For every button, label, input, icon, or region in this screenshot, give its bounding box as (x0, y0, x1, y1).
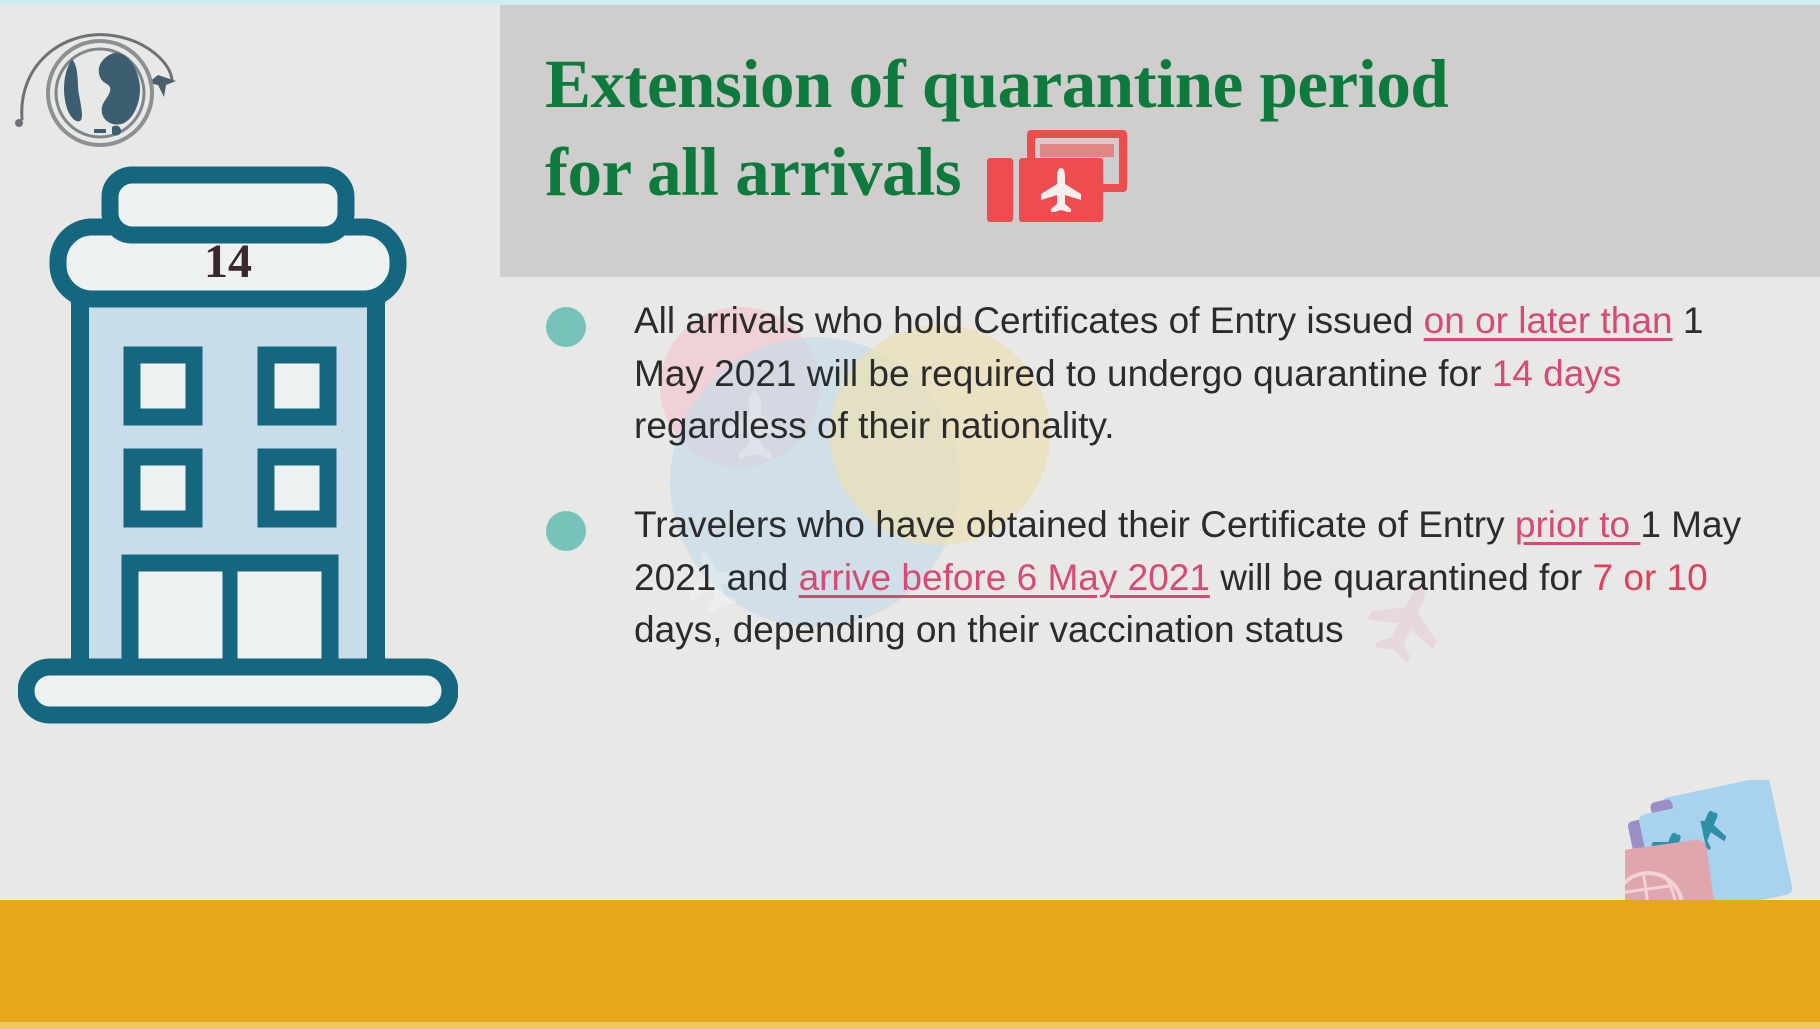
bottom-amber-bar-edge (0, 1022, 1820, 1029)
title-line-1: Extension of quarantine period (545, 42, 1775, 126)
bullet-text-2: Travelers who have obtained their Certif… (634, 499, 1764, 657)
title-line-2: for all arrivals (545, 130, 961, 214)
bullet-2-segment-5: will be quarantined for (1210, 557, 1593, 598)
left-illustration-panel: 14 (0, 5, 500, 900)
bullet-dot-icon (546, 511, 586, 551)
bullet-item-1: All arrivals who hold Certificates of En… (546, 295, 1820, 453)
infographic-slide: 14 Extension of quarantine period for al… (0, 0, 1820, 1029)
bullet-2-segment-6: 7 or 10 (1593, 557, 1708, 598)
bullet-2-segment-2: prior to (1515, 504, 1640, 545)
globe-with-flight-path-icon (8, 23, 188, 168)
bullet-1-segment-2: on or later than (1424, 300, 1673, 341)
bullet-dot-icon (546, 307, 586, 347)
content-area: All arrivals who hold Certificates of En… (500, 277, 1820, 900)
bullet-1-segment-5: regardless of their nationality. (634, 405, 1115, 446)
bullet-2-segment-4: arrive before 6 May 2021 (799, 557, 1210, 598)
bullet-2-segment-1: Travelers who have obtained their Certif… (634, 504, 1515, 545)
bullet-item-2: Travelers who have obtained their Certif… (546, 499, 1820, 657)
page-title: Extension of quarantine period for all a… (545, 42, 1775, 218)
flight-ticket-icon (987, 130, 1129, 222)
bullet-1-segment-4: 14 days (1492, 353, 1622, 394)
bottom-amber-bar (0, 900, 1820, 1022)
bullet-text-1: All arrivals who hold Certificates of En… (634, 295, 1764, 453)
bullet-1-segment-1: All arrivals who hold Certificates of En… (634, 300, 1424, 341)
bullet-2-segment-7: days, depending on their vaccination sta… (634, 609, 1344, 650)
building-number-label: 14 (204, 235, 252, 288)
quarantine-building-icon: 14 (18, 165, 458, 750)
